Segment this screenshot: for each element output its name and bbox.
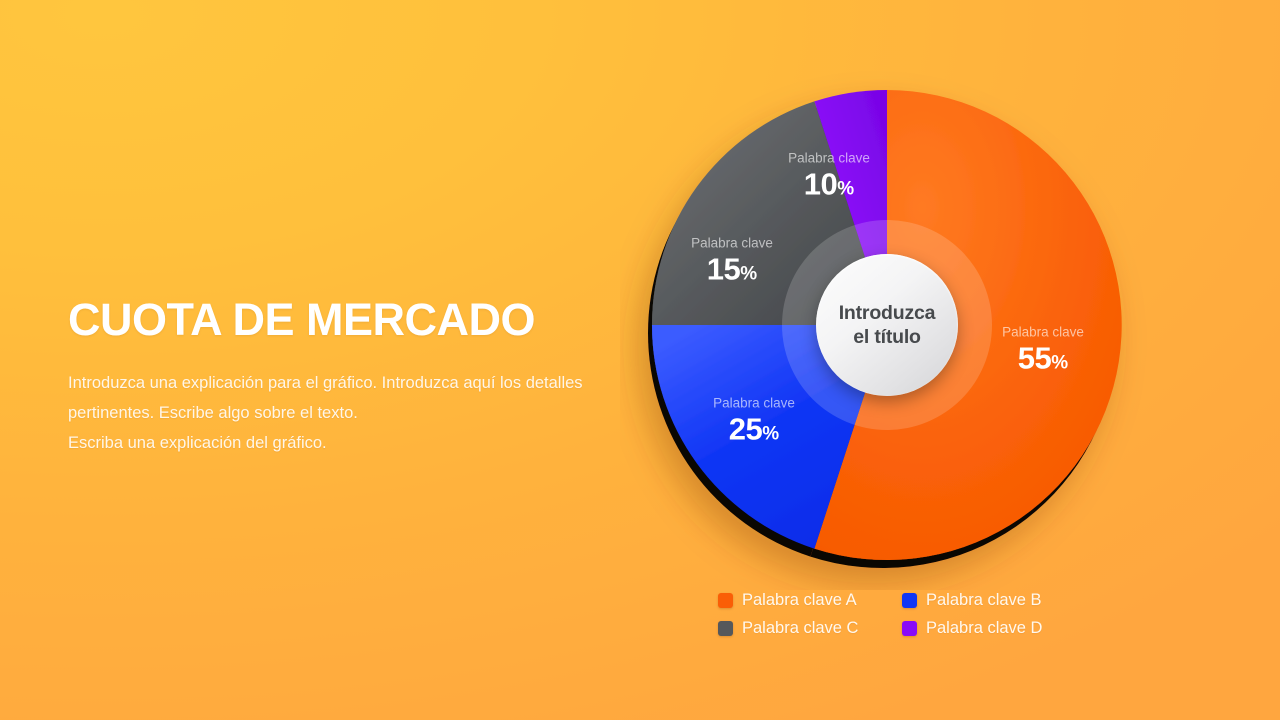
legend-label-a: Palabra clave A [742,590,857,610]
legend-label-b: Palabra clave B [926,590,1042,610]
legend-swatch-d [902,621,917,636]
chart-legend: Palabra clave A Palabra clave B Palabra … [718,590,1078,638]
legend-item-d[interactable]: Palabra clave D [902,618,1074,638]
legend-label-d: Palabra clave D [926,618,1042,638]
pie-graphic: Introduzca el título Palabra clave 55% P… [620,60,1150,590]
legend-label-c: Palabra clave C [742,618,858,638]
center-title-text: Introduzca el título [839,301,936,349]
slide-canvas: CUOTA DE MERCADO Introduzca una explicac… [0,0,1280,720]
legend-item-c[interactable]: Palabra clave C [718,618,890,638]
description-text: Introduzca una explicación para el gráfi… [68,368,588,458]
pie-chart: Introduzca el título Palabra clave 55% P… [620,60,1180,660]
legend-swatch-b [902,593,917,608]
legend-swatch-c [718,621,733,636]
legend-item-b[interactable]: Palabra clave B [902,590,1074,610]
legend-swatch-a [718,593,733,608]
left-text-panel: CUOTA DE MERCADO Introduzca una explicac… [68,296,588,458]
page-title: CUOTA DE MERCADO [68,296,588,344]
center-title-circle[interactable]: Introduzca el título [816,254,958,396]
legend-item-a[interactable]: Palabra clave A [718,590,890,610]
